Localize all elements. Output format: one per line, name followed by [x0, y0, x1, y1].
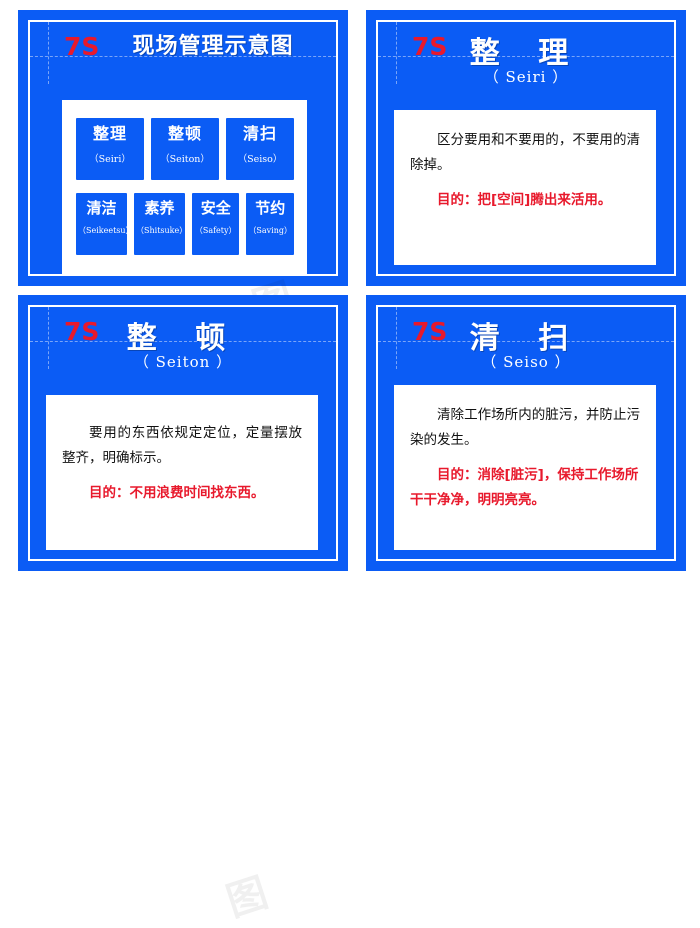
panel-overview: 7S 现场管理示意图 整理 （Seiri） 整顿 （Seiton） 清扫 （Se — [18, 10, 348, 286]
grid-item-saving: 节约 （Saving） — [246, 193, 294, 255]
grid-item-shitsuke: 素养 （Shitsuke） — [134, 193, 185, 255]
grid-row-2: 清洁 （Seikeetsu） 素养 （Shitsuke） 安全 （Safety）… — [76, 193, 294, 255]
grid-item-label-cn: 安全 — [194, 199, 237, 219]
grid-item-label-romaji: （Seikeetsu） — [78, 225, 125, 236]
grid-item-seiton: 整顿 （Seiton） — [151, 118, 219, 180]
poster-sheet: 7S 现场管理示意图 整理 （Seiri） 整顿 （Seiton） 清扫 （Se — [0, 0, 700, 581]
grid-item-label-romaji: （Seiso） — [228, 151, 292, 165]
panel-header: 7S 清 扫 （ Seiso ） — [378, 307, 674, 379]
card-content: 清除工作场所内的脏污，并防止污染的发生。 目的：消除[脏污]，保持工作场所干干净… — [394, 385, 656, 523]
content-card: 清除工作场所内的脏污，并防止污染的发生。 目的：消除[脏污]，保持工作场所干干净… — [394, 385, 656, 550]
grid-item-seiso: 清扫 （Seiso） — [226, 118, 294, 180]
body-text: 区分要用和不要用的，不要用的清除掉。 — [410, 128, 640, 178]
purpose-text: 目的：不用浪费时间找东西。 — [62, 481, 302, 506]
panel-header: 7S 现场管理示意图 — [30, 22, 336, 94]
page-title-romaji: （ Seiton ） — [30, 351, 336, 372]
grid-item-label-cn: 清扫 — [228, 124, 292, 145]
panel-header: 7S 整 顿 （ Seiton ） — [30, 307, 336, 379]
panel-seiri: 7S 整 理 （ Seiri ） 区分要用和不要用的，不要用的清除掉。 目的：把… — [366, 10, 686, 286]
overview-card: 整理 （Seiri） 整顿 （Seiton） 清扫 （Seiso） 清洁 — [62, 100, 307, 275]
grid-item-safety: 安全 （Safety） — [192, 193, 239, 255]
grid-row-1: 整理 （Seiri） 整顿 （Seiton） 清扫 （Seiso） — [76, 118, 294, 180]
grid-item-label-romaji: （Shitsuke） — [136, 225, 183, 236]
grid-item-label-romaji: （Safety） — [194, 225, 237, 236]
panel-header: 7S 整 理 （ Seiri ） — [378, 22, 674, 94]
grid-item-seiri: 整理 （Seiri） — [76, 118, 144, 180]
card-content: 区分要用和不要用的，不要用的清除掉。 目的：把[空间]腾出来活用。 — [394, 110, 656, 223]
panel-seiso: 7S 清 扫 （ Seiso ） 清除工作场所内的脏污，并防止污染的发生。 目的… — [366, 295, 686, 571]
page-title-romaji: （ Seiso ） — [378, 351, 674, 372]
body-text: 清除工作场所内的脏污，并防止污染的发生。 — [410, 403, 640, 453]
seven-s-grid: 整理 （Seiri） 整顿 （Seiton） 清扫 （Seiso） 清洁 — [76, 118, 294, 255]
purpose-text: 目的：消除[脏污]，保持工作场所干干净净，明明亮亮。 — [410, 463, 640, 513]
grid-item-label-cn: 清洁 — [78, 199, 125, 219]
grid-item-label-romaji: （Seiri） — [78, 151, 142, 165]
watermark: 图 — [218, 860, 274, 928]
grid-item-label-cn: 节约 — [248, 199, 292, 219]
grid-item-label-cn: 整理 — [78, 124, 142, 145]
grid-item-label-cn: 素养 — [136, 199, 183, 219]
card-content: 要用的东西依规定定位，定量摆放整齐，明确标示。 目的：不用浪费时间找东西。 — [46, 395, 318, 516]
grid-item-label-romaji: （Saving） — [248, 225, 292, 236]
page-title-romaji: （ Seiri ） — [378, 66, 674, 87]
purpose-text: 目的：把[空间]腾出来活用。 — [410, 188, 640, 213]
page-title: 现场管理示意图 — [90, 28, 336, 60]
body-text: 要用的东西依规定定位，定量摆放整齐，明确标示。 — [62, 421, 302, 471]
content-card: 区分要用和不要用的，不要用的清除掉。 目的：把[空间]腾出来活用。 图 — [394, 110, 656, 265]
grid-item-seiketsu: 清洁 （Seikeetsu） — [76, 193, 127, 255]
panel-seiton: 7S 整 顿 （ Seiton ） 要用的东西依规定定位，定量摆放整齐，明确标示… — [18, 295, 348, 571]
grid-item-label-cn: 整顿 — [153, 124, 217, 145]
content-card: 要用的东西依规定定位，定量摆放整齐，明确标示。 目的：不用浪费时间找东西。 图 — [46, 395, 318, 550]
grid-item-label-romaji: （Seiton） — [153, 151, 217, 165]
